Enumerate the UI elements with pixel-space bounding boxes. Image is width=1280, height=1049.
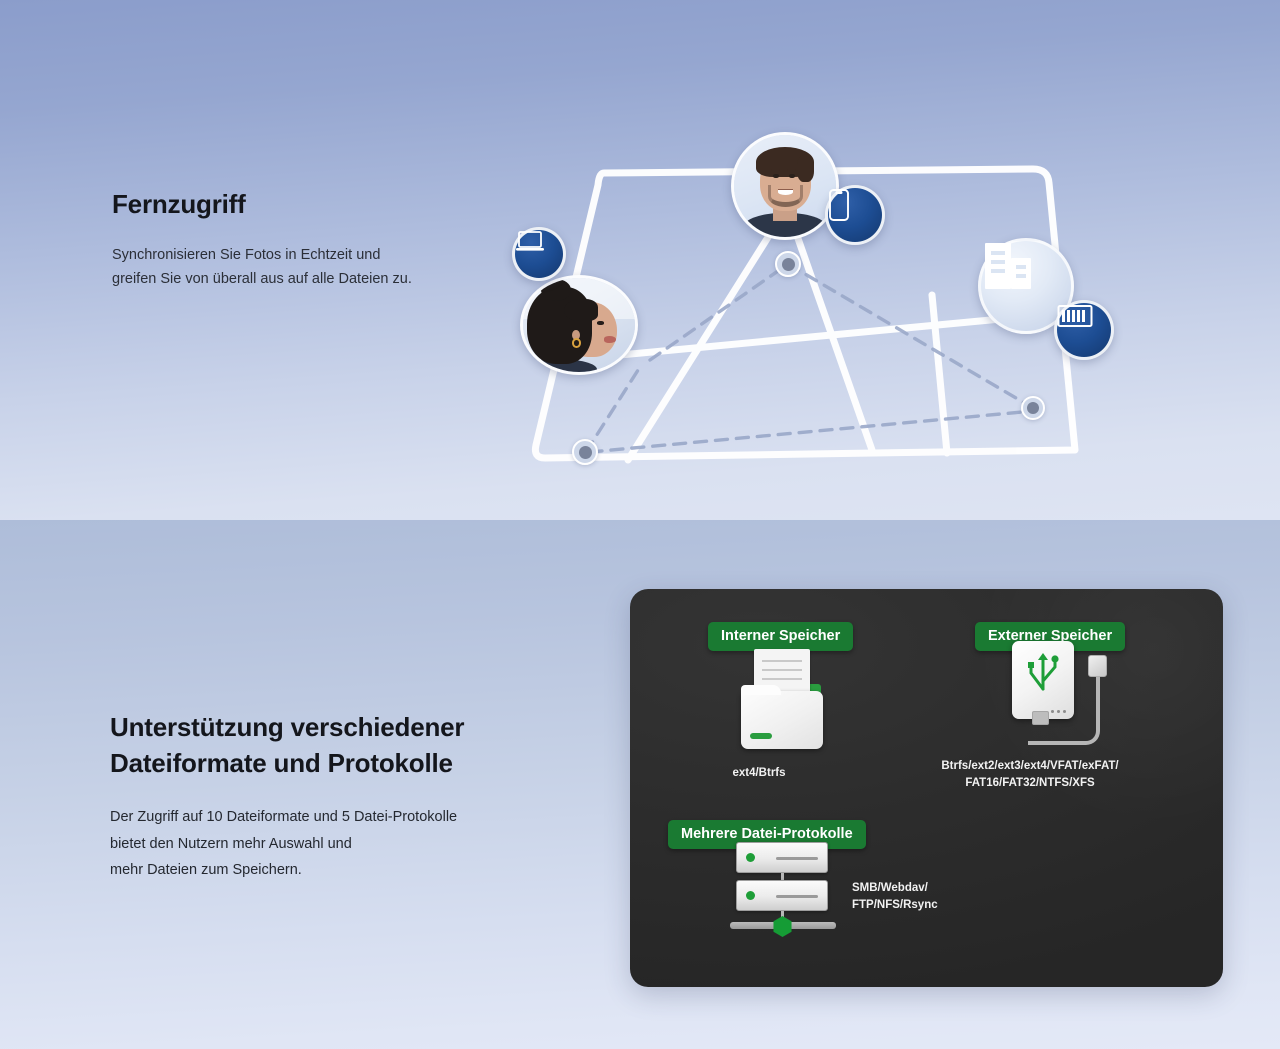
usb-status-leds [1051,710,1066,713]
badge-internal-storage: Interner Speicher [708,622,853,651]
caption-external-formats-line2: FAT16/FAT32/NTFS/XFS [880,775,1180,792]
node-user-photo-man[interactable] [731,132,839,240]
server-rack-icon [1057,303,1093,329]
man-portrait [734,135,836,237]
server-slot-line [776,895,818,898]
remote-access-copy: Fernzugriff Synchronisieren Sie Fotos in… [112,190,452,292]
phone-icon [828,188,850,222]
caption-protocols-line1: SMB/Webdav/ [852,880,1012,897]
node-user-photo-woman[interactable] [520,275,638,375]
woman-portrait [523,278,635,372]
usb-trident-icon [1026,651,1060,695]
node-smartphone[interactable] [825,185,885,245]
network-node-1[interactable] [775,251,801,277]
caption-external-formats: Btrfs/ext2/ext3/ext4/VFAT/exFAT/ FAT16/F… [880,758,1180,791]
file-formats-title: Unterstützung verschiedener Dateiformate… [110,710,630,782]
section-file-formats: Unterstützung verschiedener Dateiformate… [0,520,1280,1049]
file-formats-desc-line1: Der Zugriff auf 10 Dateiformate und 5 Da… [110,804,630,831]
laptop-icon [515,230,545,254]
server-unit-top [736,842,828,873]
server-led-icon [746,853,755,862]
file-formats-title-line2: Dateiformate und Protokolle [110,746,630,782]
folder-body [741,691,823,749]
node-laptop[interactable] [512,227,566,281]
usb-cable-segment [1096,671,1100,727]
network-hub-hexagon-icon [772,916,793,937]
caption-external-formats-line1: Btrfs/ext2/ext3/ext4/VFAT/exFAT/ [880,758,1180,775]
building-icon [981,241,1035,291]
server-led-icon [746,891,755,900]
usb-drive-body [1012,641,1074,719]
usb-cable [1028,725,1100,745]
server-slot-line [776,857,818,860]
network-illustration [500,115,1150,485]
file-formats-desc-line2: bietet den Nutzern mehr Auswahl und [110,831,630,858]
remote-access-description: Synchronisieren Sie Fotos in Echtzeit un… [112,244,422,292]
page-root: Fernzugriff Synchronisieren Sie Fotos in… [0,0,1280,1049]
caption-internal-formats: ext4/Btrfs [704,765,814,782]
section-remote-access: Fernzugriff Synchronisieren Sie Fotos in… [0,0,1280,520]
internal-storage-folder-icon [735,649,827,753]
external-usb-drive-icon [1000,637,1120,749]
file-formats-title-line1: Unterstützung verschiedener [110,710,630,746]
storage-overview-card: Interner Speicher ext4/Btrfs Externer Sp… [630,589,1223,987]
folder-green-bar [750,733,772,739]
usb-connector-plug [1088,655,1107,677]
caption-protocols-line2: FTP/NFS/Rsync [852,897,1012,914]
usb-socket [1032,711,1049,725]
file-formats-description: Der Zugriff auf 10 Dateiformate und 5 Da… [110,804,630,884]
node-server-rack[interactable] [1054,300,1114,360]
network-node-icon [1027,402,1039,414]
network-node-2[interactable] [572,439,598,465]
page-title: Fernzugriff [112,190,452,220]
caption-protocols: SMB/Webdav/ FTP/NFS/Rsync [852,880,1012,913]
protocol-server-icon [730,842,836,938]
network-node-icon [579,446,592,459]
file-formats-desc-line3: mehr Dateien zum Speichern. [110,857,630,884]
network-node-icon [782,258,795,271]
server-unit-bottom [736,880,828,911]
network-node-3[interactable] [1021,396,1045,420]
file-formats-copy: Unterstützung verschiedener Dateiformate… [110,710,630,884]
